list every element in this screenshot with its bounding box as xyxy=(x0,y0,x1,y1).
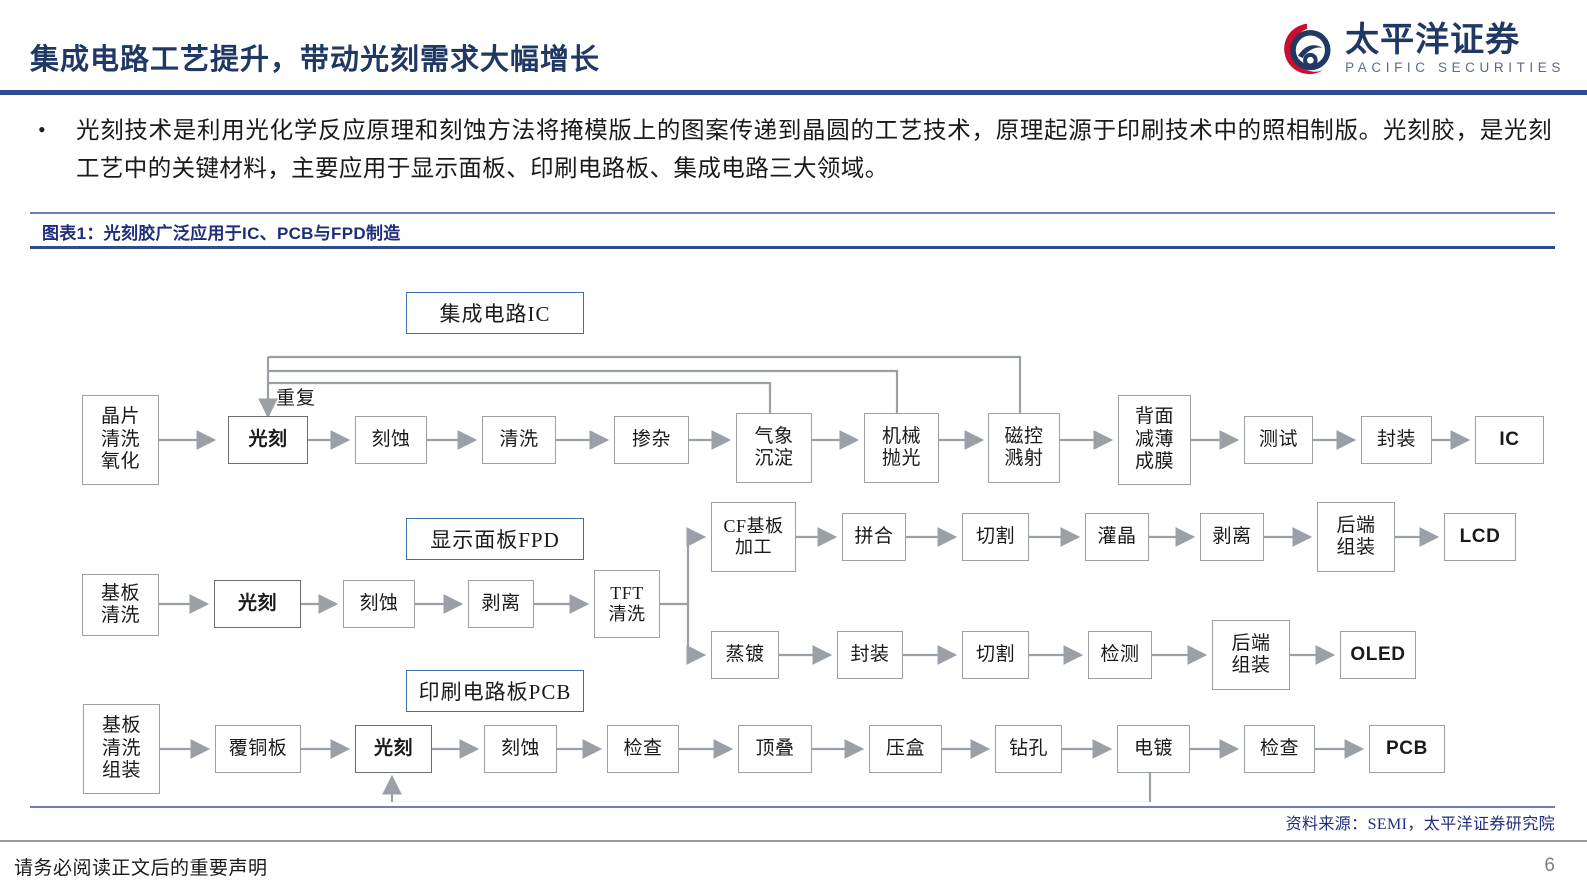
node-fpd-strip: 剥离 xyxy=(468,580,534,628)
header-divider xyxy=(0,90,1587,95)
node-oled-back-end-assembly: 后端 组装 xyxy=(1212,620,1290,690)
pacific-swirl-logo-icon xyxy=(1279,21,1335,77)
node-pcb-copper-clad-laminate: 覆铜板 xyxy=(215,725,301,773)
node-lcd-liquid-crystal-fill: 灌晶 xyxy=(1085,513,1149,561)
logo-company-name-en: PACIFIC SECURITIES xyxy=(1345,60,1565,75)
page-number: 6 xyxy=(1544,855,1555,877)
node-ic-etch: 刻蚀 xyxy=(355,416,427,464)
category-label-pcb: 印刷电路板PCB xyxy=(406,670,584,712)
bullet-paragraph: • 光刻技术是利用光化学反应原理和刻蚀方法将掩模版上的图案传递到晶圆的工艺技术，… xyxy=(32,112,1552,188)
node-pcb-press: 压盒 xyxy=(869,725,942,773)
category-label-ic: 集成电路IC xyxy=(406,292,584,334)
node-pcb-electroplate: 电镀 xyxy=(1117,725,1190,773)
node-ic-clean: 清洗 xyxy=(482,416,556,464)
node-ic-magnetron-sputter: 磁控 溅射 xyxy=(988,413,1060,483)
node-pcb-stack: 顶叠 xyxy=(738,725,812,773)
node-lcd-assemble: 拼合 xyxy=(842,513,906,561)
brand-logo: 太平洋证券 PACIFIC SECURITIES xyxy=(1279,16,1565,82)
category-label-ic-text: 集成电路IC xyxy=(440,298,551,328)
node-fpd-etch: 刻蚀 xyxy=(343,580,415,628)
node-ic-backside-thinning-film: 背面 减薄 成膜 xyxy=(1118,395,1191,485)
node-oled-evaporation: 蒸镀 xyxy=(711,631,779,679)
node-pcb-drill: 钻孔 xyxy=(995,725,1062,773)
node-oled-inspect: 检测 xyxy=(1088,631,1152,679)
node-ic-wafer-clean-oxidize: 晶片 清洗 氧化 xyxy=(82,395,159,485)
node-pcb-output: PCB xyxy=(1369,725,1445,773)
page-title: 集成电路工艺提升，带动光刻需求大幅增长 xyxy=(30,36,600,78)
node-ic-doping: 掺杂 xyxy=(614,416,689,464)
footer-disclaimer: 请务必阅读正文后的重要声明 xyxy=(14,853,268,880)
node-lcd-cf-substrate-process: CF基板 加工 xyxy=(711,502,796,572)
node-oled-package: 封装 xyxy=(837,631,903,679)
node-fpd-tft-clean: TFT 清洗 xyxy=(594,570,660,638)
exhibit-caption: 图表1：光刻胶广泛应用于IC、PCB与FPD制造 xyxy=(42,219,401,244)
category-label-fpd-text: 显示面板FPD xyxy=(430,524,560,554)
node-ic-test: 测试 xyxy=(1244,416,1313,464)
logo-company-name-cn: 太平洋证券 xyxy=(1345,23,1565,58)
bullet-marker-icon: • xyxy=(32,112,76,148)
node-fpd-lithography: 光刻 xyxy=(214,580,301,628)
node-lcd-back-end-assembly: 后端 组装 xyxy=(1317,502,1395,572)
node-pcb-inspect-1: 检查 xyxy=(607,725,679,773)
node-pcb-etch: 刻蚀 xyxy=(484,725,557,773)
node-lcd-cut: 切割 xyxy=(962,513,1029,561)
footer-divider xyxy=(0,840,1587,842)
source-note: 资料来源：SEMI，太平洋证券研究院 xyxy=(1286,810,1555,834)
node-pcb-lithography: 光刻 xyxy=(355,725,432,773)
exhibit-top-divider xyxy=(30,212,1555,214)
source-divider xyxy=(30,806,1555,808)
node-fpd-substrate-clean: 基板 清洗 xyxy=(82,574,159,636)
category-label-pcb-text: 印刷电路板PCB xyxy=(419,676,572,706)
loop-label-repeat: 重复 xyxy=(276,383,316,410)
node-lcd-output: LCD xyxy=(1444,513,1516,561)
node-lcd-strip: 剥离 xyxy=(1200,513,1264,561)
slide-header: 集成电路工艺提升，带动光刻需求大幅增长 太平洋证券 PACIFIC SECURI… xyxy=(0,0,1587,96)
category-label-fpd: 显示面板FPD xyxy=(406,518,584,560)
exhibit-bottom-divider xyxy=(30,246,1555,249)
node-ic-cmp: 机械 抛光 xyxy=(864,413,939,483)
node-pcb-inspect-2: 检查 xyxy=(1244,725,1315,773)
node-ic-package: 封装 xyxy=(1361,416,1432,464)
node-pcb-substrate-clean-assemble: 基板 清洗 组装 xyxy=(83,704,160,794)
process-flow-diagram: 集成电路IC 显示面板FPD 印刷电路板PCB 重复 晶片 清洗 氧化 光刻 刻… xyxy=(0,250,1587,802)
node-ic-lithography: 光刻 xyxy=(228,416,308,464)
node-oled-output: OLED xyxy=(1340,631,1416,679)
node-ic-output: IC xyxy=(1475,416,1544,464)
bullet-body-text: 光刻技术是利用光化学反应原理和刻蚀方法将掩模版上的图案传递到晶圆的工艺技术，原理… xyxy=(76,112,1552,188)
node-oled-cut: 切割 xyxy=(962,631,1029,679)
node-ic-vapor-deposition: 气象 沉淀 xyxy=(736,413,812,483)
